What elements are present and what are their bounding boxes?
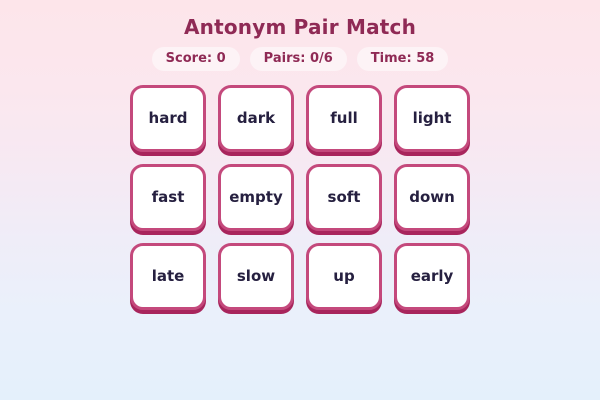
card-tile[interactable]: soft — [306, 164, 382, 231]
card-tile[interactable]: slow — [218, 243, 294, 310]
card-tile[interactable]: down — [394, 164, 470, 231]
card-label: soft — [328, 189, 361, 206]
card-tile[interactable]: early — [394, 243, 470, 310]
card-tile[interactable]: empty — [218, 164, 294, 231]
card-label: dark — [237, 110, 275, 127]
game-screen: Antonym Pair Match Score: 0 Pairs: 0/6 T… — [0, 0, 600, 400]
card-tile[interactable]: light — [394, 85, 470, 152]
card-label: down — [409, 189, 455, 206]
card-label: full — [330, 110, 358, 127]
card-grid: hard dark full light fast empty soft dow… — [129, 85, 471, 310]
card-label: late — [152, 268, 185, 285]
card-label: light — [413, 110, 452, 127]
card-label: empty — [229, 189, 283, 206]
card-label: hard — [149, 110, 188, 127]
card-tile[interactable]: dark — [218, 85, 294, 152]
card-label: up — [333, 268, 354, 285]
status-bar: Score: 0 Pairs: 0/6 Time: 58 — [152, 47, 449, 71]
card-tile[interactable]: late — [130, 243, 206, 310]
card-label: fast — [152, 189, 185, 206]
card-label: early — [411, 268, 454, 285]
status-badge-pairs: Pairs: 0/6 — [250, 47, 347, 71]
card-tile[interactable]: full — [306, 85, 382, 152]
card-label: slow — [237, 268, 275, 285]
card-tile[interactable]: up — [306, 243, 382, 310]
card-tile[interactable]: hard — [130, 85, 206, 152]
page-title: Antonym Pair Match — [184, 14, 416, 40]
card-tile[interactable]: fast — [130, 164, 206, 231]
status-badge-score: Score: 0 — [152, 47, 240, 71]
status-badge-time: Time: 58 — [357, 47, 449, 71]
